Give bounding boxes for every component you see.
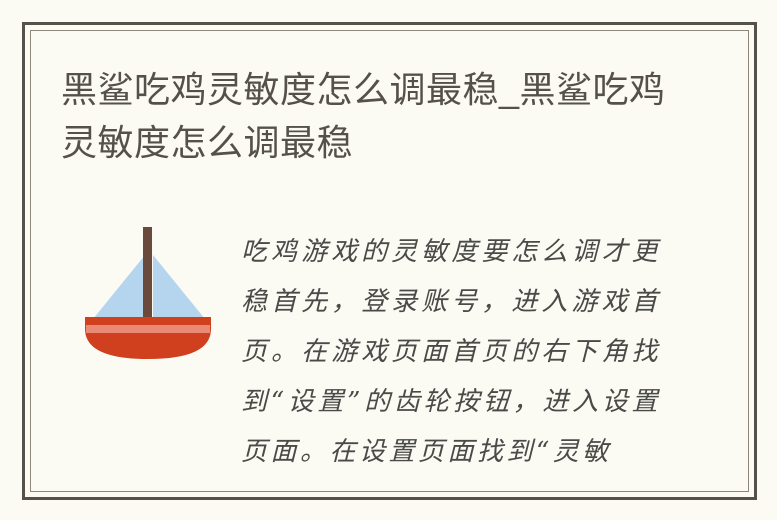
article-card: 黑鲨吃鸡灵敏度怎么调最稳_黑鲨吃鸡灵敏度怎么调最稳 吃鸡游戏的灵敏度要怎么调才更… xyxy=(22,22,757,500)
page-title: 黑鲨吃鸡灵敏度怎么调最稳_黑鲨吃鸡灵敏度怎么调最稳 xyxy=(61,63,691,169)
sailboat-hull xyxy=(85,317,211,359)
sailboat-mast xyxy=(143,227,152,323)
sailboat-right-sail xyxy=(153,255,205,319)
article-content: 吃鸡游戏的灵敏度要怎么调才更稳首先，登录账号，进入游戏首页。在游戏页面首页的右下… xyxy=(31,201,748,492)
sailboat-icon xyxy=(83,219,213,359)
article-card-inner: 黑鲨吃鸡灵敏度怎么调最稳_黑鲨吃鸡灵敏度怎么调最稳 吃鸡游戏的灵敏度要怎么调才更… xyxy=(30,30,749,492)
sailboat-illustration xyxy=(83,219,213,359)
article-body: 吃鸡游戏的灵敏度要怎么调才更稳首先，登录账号，进入游戏首页。在游戏页面首页的右下… xyxy=(241,227,661,492)
sailboat-left-sail xyxy=(93,255,145,319)
sailboat-hull-stripe xyxy=(86,325,210,333)
